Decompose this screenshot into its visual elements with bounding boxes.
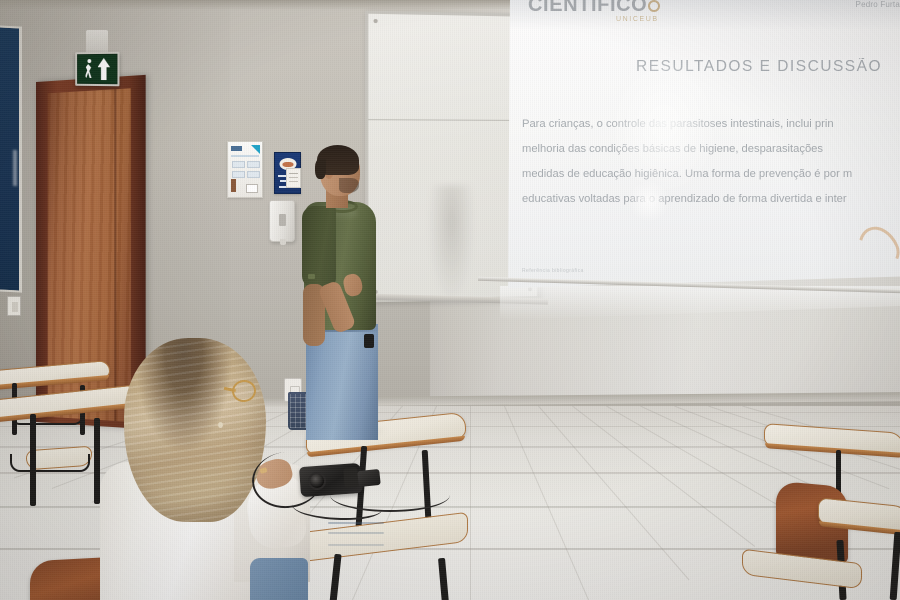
classroom-presentation-scene: CIENTÍFICO UNICEUB Pedro Furta RESULTADO…	[0, 0, 900, 600]
power-adapter	[357, 469, 381, 487]
slide-body-line: educativas voltadas para o aprendizado d…	[522, 187, 900, 212]
emergency-exit-icon	[75, 52, 119, 87]
slide-swoosh-logo-icon	[850, 220, 900, 278]
poster-cell	[232, 171, 245, 178]
slide-author-name: Pedro Furta	[856, 0, 900, 9]
attendee-leg	[250, 558, 308, 600]
poster-cell	[247, 161, 260, 168]
running-person-glyph	[84, 59, 94, 79]
presenter-hair	[317, 145, 359, 175]
light-switch[interactable]	[7, 296, 21, 316]
bulletin-board	[0, 25, 22, 292]
slide-brand-logo: CIENTÍFICO	[528, 0, 660, 17]
slide-brand-text: CIENTÍFICO	[528, 0, 647, 16]
poster-cell	[247, 171, 260, 178]
poster-corner-accent	[251, 145, 260, 154]
informational-poster	[227, 141, 263, 198]
slide-brand-subtext: UNICEUB	[616, 16, 659, 23]
desk-writing-surface	[764, 423, 900, 455]
wristwatch	[364, 334, 374, 348]
desk-right-seat	[742, 556, 862, 600]
arrow-up-glyph	[97, 58, 110, 80]
sleeve-tag	[308, 274, 315, 279]
desk-writing-surface	[818, 497, 900, 533]
poster-note	[246, 184, 258, 193]
presenter-shadow-on-board	[428, 185, 475, 305]
exit-sign-mount	[86, 30, 108, 54]
poster-rule	[231, 155, 259, 157]
poster-cell	[232, 161, 245, 168]
attendee-hair-strands	[124, 338, 266, 522]
slide-footer-note: Referência bibliográfica	[522, 268, 584, 274]
dispenser-window	[279, 214, 286, 226]
presenter-beard	[339, 178, 359, 193]
slide-body-line: medidas de educação higiênica. Uma forma…	[522, 162, 900, 187]
slide-body-text: Para crianças, o controle das parasitose…	[522, 112, 900, 212]
jeans-fold	[328, 522, 384, 524]
slide-body-line: Para crianças, o controle das parasitose…	[522, 112, 900, 137]
dispenser-nozzle	[280, 239, 286, 245]
camera-on-desk	[299, 463, 363, 497]
slide-title: RESULTADOS E DISCUSSÃO	[636, 58, 900, 76]
camera-grip	[343, 467, 358, 488]
projected-slide: CIENTÍFICO UNICEUB Pedro Furta RESULTADO…	[508, 0, 900, 288]
earring	[218, 422, 223, 428]
poster-logo	[231, 146, 242, 151]
slide-body-line: melhoria das condições básicas de higien…	[522, 137, 900, 162]
slide-brand-mark-icon	[648, 0, 660, 12]
camera-lens-icon	[307, 471, 326, 490]
bulletin-board-glint	[13, 150, 17, 186]
poster-image-block	[231, 179, 236, 192]
